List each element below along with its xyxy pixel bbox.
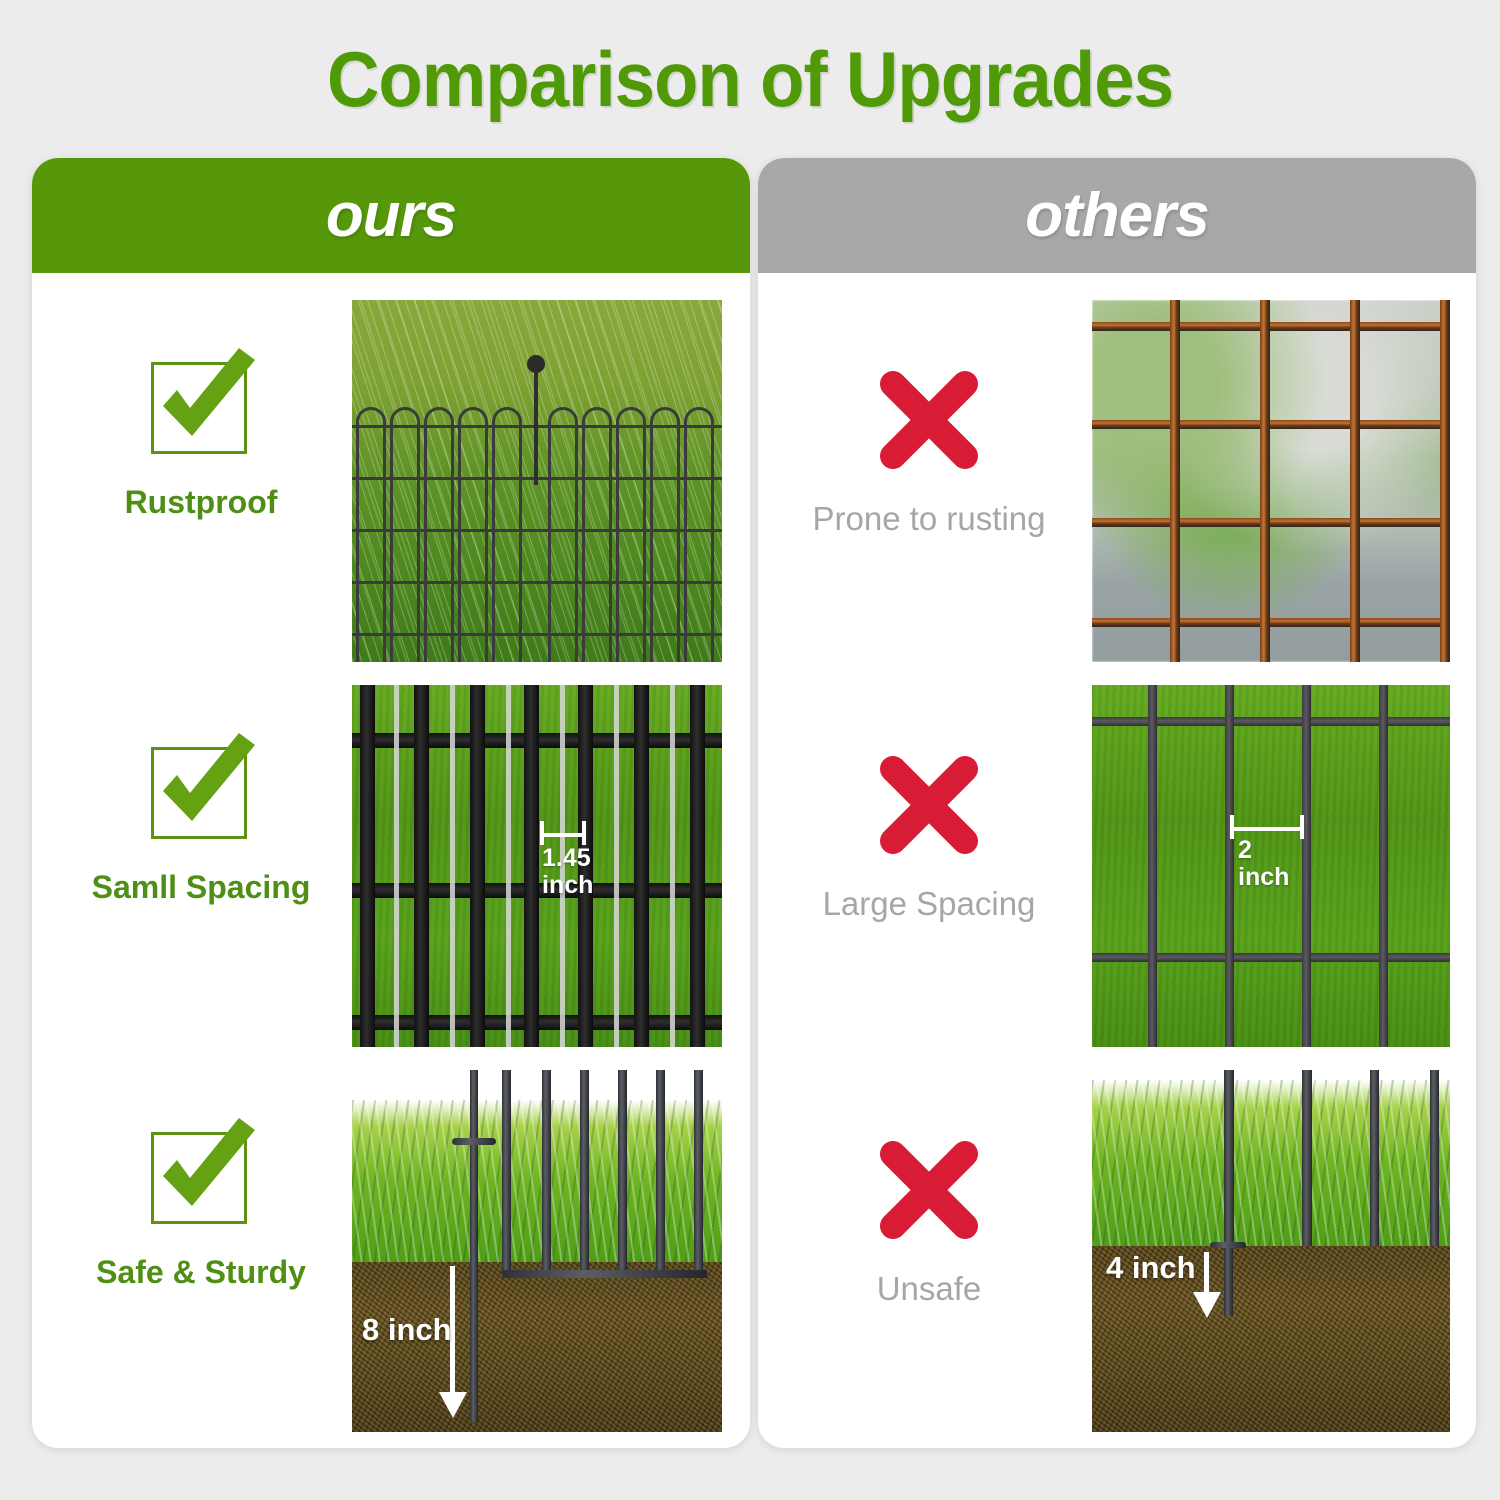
others-spacing-caption: Large Spacing: [804, 885, 1054, 923]
rusty-wire-mesh-photo: [1092, 300, 1450, 662]
others-rusting-label-block: Prone to rusting: [804, 364, 1054, 538]
check-icon: [145, 1122, 257, 1230]
deep-stake-soil-cross-section: 8 inch: [352, 1070, 722, 1432]
ours-card: ours Rustproof: [32, 158, 750, 1448]
ours-spacing-caption: Samll Spacing: [70, 869, 332, 906]
shallow-stake-soil-cross-section: 4 inch: [1092, 1070, 1450, 1432]
fence-in-rain-photo: [352, 300, 722, 662]
ours-spacing-dimension-text: 1.45 inch: [542, 845, 593, 899]
others-unsafe-caption: Unsafe: [804, 1270, 1054, 1308]
others-header: others: [758, 158, 1476, 273]
column-others: others Prone to rusting: [758, 158, 1476, 1448]
cross-icon: [873, 749, 985, 861]
cross-icon: [873, 364, 985, 476]
page-title: Comparison of Upgrades: [53, 34, 1448, 125]
ours-sturdy-caption: Safe & Sturdy: [70, 1254, 332, 1291]
others-rusting-caption: Prone to rusting: [804, 500, 1054, 538]
check-icon: [145, 352, 257, 460]
narrow-bar-spacing-photo: 1.45 inch: [352, 685, 722, 1047]
others-row-unsafe: Unsafe 4 inch: [758, 1058, 1476, 1443]
others-card: others Prone to rusting: [758, 158, 1476, 1448]
check-icon: [145, 737, 257, 845]
ours-header: ours: [32, 158, 750, 273]
ours-depth-text: 8 inch: [362, 1312, 452, 1348]
others-row-spacing: Large Spacing 2 inch: [758, 673, 1476, 1058]
others-spacing-dimension-text: 2 inch: [1238, 837, 1289, 891]
ours-row-rustproof: Rustproof: [32, 288, 750, 673]
others-header-label: others: [1025, 180, 1208, 251]
ours-spacing-label-block: Samll Spacing: [70, 737, 332, 906]
others-row-rusting: Prone to rusting: [758, 288, 1476, 673]
ours-rustproof-label-block: Rustproof: [70, 352, 332, 521]
ours-sturdy-label-block: Safe & Sturdy: [70, 1122, 332, 1291]
ours-row-sturdy: Safe & Sturdy 8 inch: [32, 1058, 750, 1443]
ours-header-label: ours: [326, 180, 456, 251]
ours-row-spacing: Samll Spacing: [32, 673, 750, 1058]
column-ours: ours Rustproof: [32, 158, 750, 1448]
cross-icon: [873, 1134, 985, 1246]
wide-bar-spacing-photo: 2 inch: [1092, 685, 1450, 1047]
others-unsafe-label-block: Unsafe: [804, 1134, 1054, 1308]
others-spacing-label-block: Large Spacing: [804, 749, 1054, 923]
ours-rustproof-caption: Rustproof: [70, 484, 332, 521]
others-depth-text: 4 inch: [1106, 1250, 1196, 1286]
